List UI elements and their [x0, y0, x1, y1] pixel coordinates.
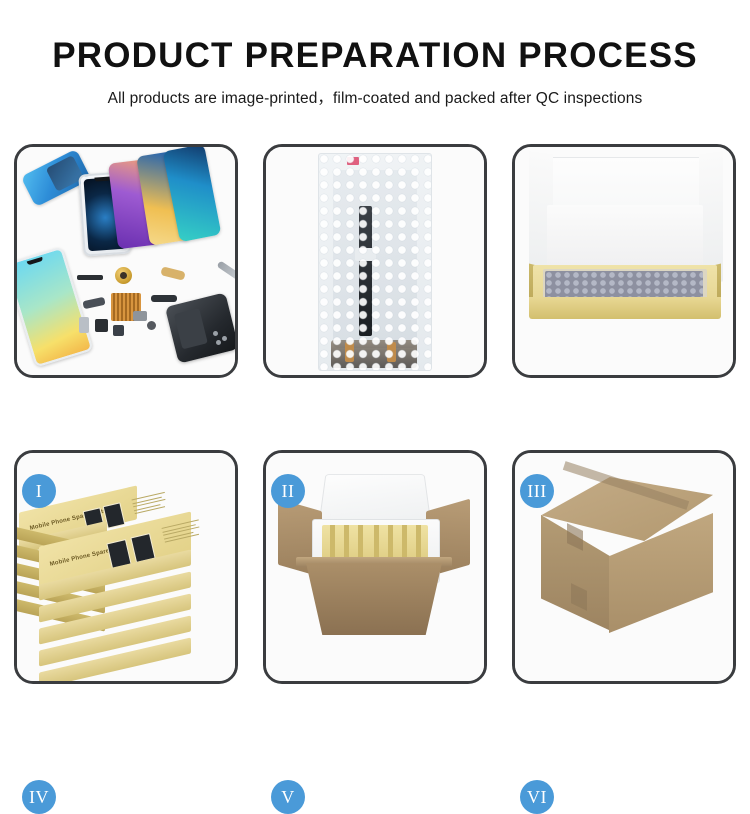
small-part-3: [113, 325, 124, 336]
page-subtitle: All products are image-printed，film-coat…: [0, 73, 750, 108]
box-spec-lines-1: [132, 491, 173, 517]
carton-body: [306, 563, 442, 635]
flex-bar-part: [77, 275, 103, 280]
notch-icon: [94, 177, 110, 182]
bubble-texture: [319, 154, 431, 370]
box-front-wall: [529, 297, 721, 319]
flex-cable-gold: [160, 266, 185, 281]
screwdriver-icon: [216, 260, 235, 288]
step-badge-1: I: [22, 474, 56, 508]
screws-group: [213, 331, 231, 345]
step-badge-4: IV: [22, 780, 56, 814]
photo-foam-box: [515, 147, 733, 375]
page-title: PRODUCT PREPARATION PROCESS: [0, 0, 750, 73]
step-badge-6: VI: [520, 780, 554, 814]
photo-bubble-bag: [266, 147, 484, 375]
step-badge-3: III: [520, 474, 554, 508]
step-badge-5: V: [271, 780, 305, 814]
product-preparation-infographic: PRODUCT PREPARATION PROCESS All products…: [0, 0, 750, 750]
header: PRODUCT PREPARATION PROCESS All products…: [0, 0, 750, 108]
small-part-2: [95, 319, 108, 332]
bubble-wrap-bag: [318, 153, 432, 371]
step-badge-2: II: [271, 474, 305, 508]
step-panel-1[interactable]: [14, 144, 238, 378]
spare-parts-group: [73, 265, 233, 361]
steps-grid: Mobile Phone Spare Parts Mobile Phone Sp…: [14, 144, 736, 684]
step-panel-2[interactable]: [263, 144, 487, 378]
small-part-5: [147, 321, 156, 330]
speaker-coil-icon: [115, 267, 132, 284]
photo-product-lineup: [17, 147, 235, 375]
notch-icon: [27, 257, 43, 266]
phone-chassis-part: [165, 292, 235, 363]
small-part-4: [133, 311, 147, 321]
flex-cable-grey: [82, 297, 105, 309]
step-panel-3[interactable]: [512, 144, 736, 378]
flex-cable-black: [151, 295, 177, 302]
small-part-1: [79, 317, 89, 333]
